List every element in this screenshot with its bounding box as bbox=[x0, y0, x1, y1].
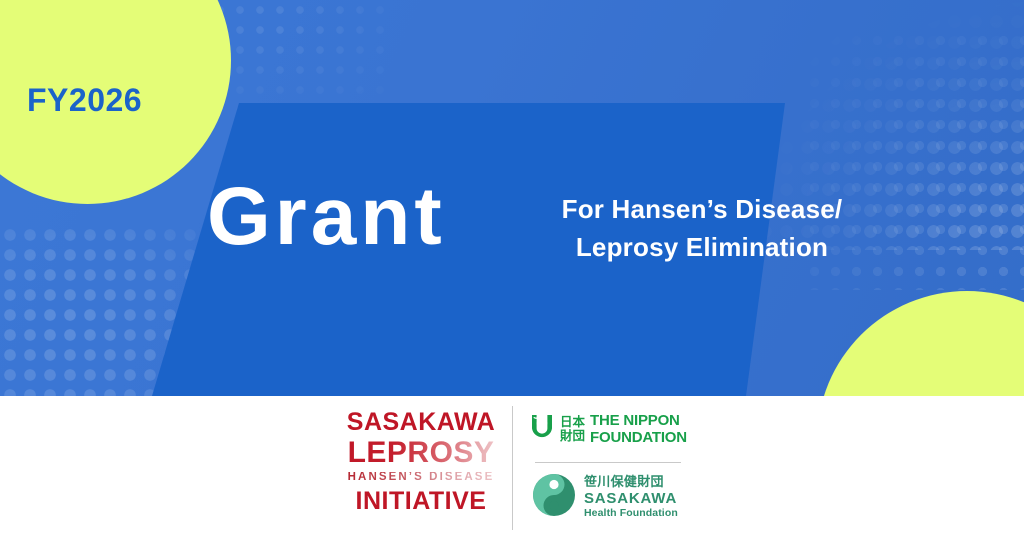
subtitle-line-1: For Hansen’s Disease/ bbox=[512, 191, 892, 229]
nippon-foundation-japanese-name: 日本 財団 bbox=[560, 415, 585, 443]
nippon-foundation-english-name: THE NIPPON FOUNDATION bbox=[590, 412, 687, 446]
page-title: Grant bbox=[207, 176, 446, 258]
shf-english-name: SASAKAWA bbox=[584, 491, 678, 507]
fiscal-year-label: FY2026 bbox=[27, 82, 142, 119]
sasakawa-health-foundation-wordmark: 笹川保健財団 SASAKAWA Health Foundation bbox=[584, 475, 678, 520]
sli-line-initiative: INITIATIVE bbox=[338, 489, 504, 514]
sasakawa-health-s-mark-icon bbox=[532, 473, 576, 522]
shf-english-subtitle: Health Foundation bbox=[584, 508, 678, 519]
nippon-en-line-1: THE NIPPON bbox=[590, 412, 687, 429]
banner-subtitle: For Hansen’s Disease/ Leprosy Eliminatio… bbox=[512, 191, 892, 267]
logo-divider-vertical bbox=[512, 406, 513, 530]
sasakawa-leprosy-initiative-logo[interactable]: SASAKAWA LEPROSY HANSEN’S DISEASE INITIA… bbox=[338, 410, 504, 514]
nippon-en-line-2: FOUNDATION bbox=[590, 429, 687, 446]
nippon-jp-line-1: 日本 bbox=[560, 415, 585, 429]
sasakawa-health-foundation-logo[interactable]: 笹川保健財団 SASAKAWA Health Foundation bbox=[532, 473, 678, 522]
sli-line-hansens-disease: HANSEN’S DISEASE bbox=[338, 472, 504, 484]
sli-line-leprosy: LEPROSY bbox=[338, 438, 504, 468]
nippon-foundation-face-icon bbox=[529, 413, 555, 446]
sli-line-sasakawa: SASAKAWA bbox=[338, 410, 504, 435]
nippon-jp-line-2: 財団 bbox=[560, 429, 585, 443]
subtitle-line-2: Leprosy Elimination bbox=[512, 229, 892, 267]
nippon-foundation-logo[interactable]: 日本 財団 THE NIPPON FOUNDATION bbox=[529, 412, 687, 446]
grant-banner: FY2026 Grant For Hansen’s Disease/ Lepro… bbox=[0, 0, 1024, 538]
logo-divider-horizontal bbox=[535, 462, 681, 463]
shf-japanese-name: 笹川保健財団 bbox=[584, 475, 678, 489]
